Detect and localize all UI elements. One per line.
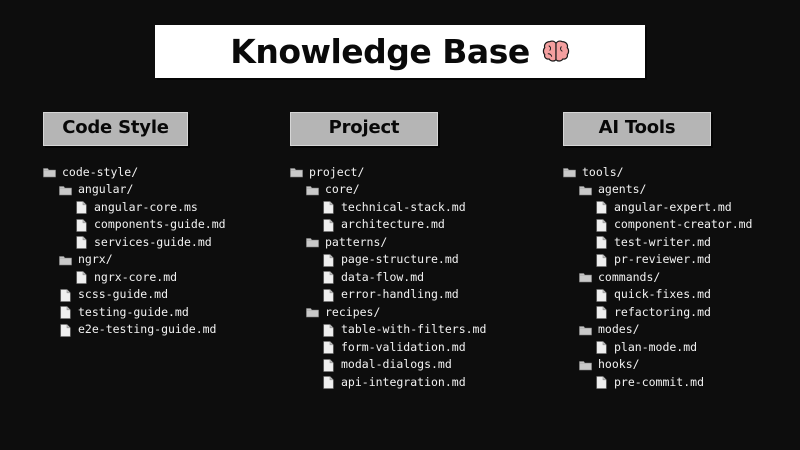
tree-item-label: api-integration.md [341, 377, 466, 389]
tree-item-label: error-handling.md [341, 289, 459, 301]
column-code-style: Code Style code-style/angular/angular-co… [0, 112, 268, 391]
tree-folder-row[interactable]: core/ [290, 181, 550, 199]
tree-item-label: component-creator.md [614, 219, 752, 231]
tree-folder-row[interactable]: recipes/ [290, 304, 550, 322]
tree-file-row[interactable]: table-with-filters.md [290, 321, 550, 339]
file-icon [595, 289, 608, 302]
tree-item-label: pr-reviewer.md [614, 254, 711, 266]
file-icon [595, 376, 608, 389]
tree-folder-row[interactable]: ngrx/ [43, 251, 268, 269]
folder-icon [306, 306, 319, 319]
tree-item-label: modal-dialogs.md [341, 359, 452, 371]
file-icon [595, 306, 608, 319]
tree-folder-row[interactable]: modes/ [563, 321, 800, 339]
tree-file-row[interactable]: components-guide.md [43, 216, 268, 234]
tree-folder-row[interactable]: commands/ [563, 269, 800, 287]
tree-item-label: form-validation.md [341, 342, 466, 354]
tree-file-row[interactable]: pre-commit.md [563, 374, 800, 392]
folder-icon [579, 271, 592, 284]
tree-item-label: table-with-filters.md [341, 324, 486, 336]
tree-item-label: technical-stack.md [341, 202, 466, 214]
folder-icon [59, 254, 72, 267]
tree-file-row[interactable]: modal-dialogs.md [290, 356, 550, 374]
tree-file-row[interactable]: page-structure.md [290, 251, 550, 269]
tree-ai-tools: tools/agents/angular-expert.mdcomponent-… [563, 164, 800, 392]
tree-item-label: test-writer.md [614, 237, 711, 249]
tree-folder-row[interactable]: code-style/ [43, 164, 268, 182]
title-banner: Knowledge Base [155, 25, 645, 78]
tree-file-row[interactable]: error-handling.md [290, 286, 550, 304]
file-icon [595, 201, 608, 214]
folder-icon [59, 184, 72, 197]
tree-item-label: patterns/ [325, 237, 387, 249]
file-icon [322, 359, 335, 372]
tree-item-label: scss-guide.md [78, 289, 168, 301]
file-icon [322, 219, 335, 232]
file-icon [75, 219, 88, 232]
tree-item-label: agents/ [598, 184, 646, 196]
tree-item-label: ngrx/ [78, 254, 113, 266]
tree-item-label: core/ [325, 184, 360, 196]
file-icon [322, 376, 335, 389]
file-icon [322, 201, 335, 214]
file-icon [75, 236, 88, 249]
tree-file-row[interactable]: pr-reviewer.md [563, 251, 800, 269]
tree-folder-row[interactable]: project/ [290, 164, 550, 182]
slide-root: Knowledge Base Code Style code-style/ang… [0, 0, 800, 450]
file-icon [595, 254, 608, 267]
tree-folder-row[interactable]: tools/ [563, 164, 800, 182]
column-header-project: Project [290, 112, 438, 146]
folder-icon [290, 166, 303, 179]
tree-item-label: data-flow.md [341, 272, 424, 284]
tree-item-label: pre-commit.md [614, 377, 704, 389]
tree-folder-row[interactable]: hooks/ [563, 356, 800, 374]
file-icon [322, 324, 335, 337]
folder-icon [579, 324, 592, 337]
file-icon [59, 306, 72, 319]
tree-file-row[interactable]: plan-mode.md [563, 339, 800, 357]
file-icon [59, 324, 72, 337]
tree-item-label: angular-core.ms [94, 202, 198, 214]
tree-item-label: quick-fixes.md [614, 289, 711, 301]
tree-item-label: commands/ [598, 272, 660, 284]
tree-file-row[interactable]: angular-core.ms [43, 199, 268, 217]
tree-folder-row[interactable]: patterns/ [290, 234, 550, 252]
column-header-code-style: Code Style [43, 112, 188, 146]
folder-icon [563, 166, 576, 179]
folder-icon [579, 184, 592, 197]
folder-icon [306, 184, 319, 197]
tree-folder-row[interactable]: agents/ [563, 181, 800, 199]
tree-file-row[interactable]: testing-guide.md [43, 304, 268, 322]
tree-item-label: e2e-testing-guide.md [78, 324, 216, 336]
tree-file-row[interactable]: component-creator.md [563, 216, 800, 234]
file-icon [75, 271, 88, 284]
tree-item-label: services-guide.md [94, 237, 212, 249]
file-icon [75, 201, 88, 214]
tree-item-label: components-guide.md [94, 219, 226, 231]
column-header-ai-tools: AI Tools [563, 112, 711, 146]
tree-file-row[interactable]: technical-stack.md [290, 199, 550, 217]
tree-file-row[interactable]: quick-fixes.md [563, 286, 800, 304]
tree-item-label: angular-expert.md [614, 202, 732, 214]
tree-file-row[interactable]: architecture.md [290, 216, 550, 234]
tree-item-label: tools/ [582, 167, 624, 179]
tree-item-label: hooks/ [598, 359, 640, 371]
tree-file-row[interactable]: e2e-testing-guide.md [43, 321, 268, 339]
tree-file-row[interactable]: api-integration.md [290, 374, 550, 392]
tree-item-label: refactoring.md [614, 307, 711, 319]
folder-icon [306, 236, 319, 249]
tree-project: project/core/technical-stack.mdarchitect… [290, 164, 550, 392]
tree-folder-row[interactable]: angular/ [43, 181, 268, 199]
tree-file-row[interactable]: angular-expert.md [563, 199, 800, 217]
tree-item-label: code-style/ [62, 167, 138, 179]
tree-item-label: project/ [309, 167, 364, 179]
tree-file-row[interactable]: services-guide.md [43, 234, 268, 252]
columns-container: Code Style code-style/angular/angular-co… [0, 112, 800, 391]
file-icon [322, 254, 335, 267]
tree-file-row[interactable]: form-validation.md [290, 339, 550, 357]
page-title: Knowledge Base [230, 35, 529, 68]
column-project: Project project/core/technical-stack.mda… [268, 112, 550, 391]
file-icon [322, 271, 335, 284]
file-icon [595, 219, 608, 232]
tree-item-label: modes/ [598, 324, 640, 336]
file-icon [595, 236, 608, 249]
tree-item-label: architecture.md [341, 219, 445, 231]
file-icon [595, 341, 608, 354]
tree-item-label: page-structure.md [341, 254, 459, 266]
file-icon [322, 341, 335, 354]
file-icon [322, 289, 335, 302]
tree-item-label: angular/ [78, 184, 133, 196]
tree-file-row[interactable]: test-writer.md [563, 234, 800, 252]
tree-file-row[interactable]: refactoring.md [563, 304, 800, 322]
tree-item-label: recipes/ [325, 307, 380, 319]
tree-file-row[interactable]: ngrx-core.md [43, 269, 268, 287]
folder-icon [579, 359, 592, 372]
tree-item-label: ngrx-core.md [94, 272, 177, 284]
tree-item-label: testing-guide.md [78, 307, 189, 319]
brain-emoji-icon [542, 39, 570, 65]
tree-file-row[interactable]: data-flow.md [290, 269, 550, 287]
tree-code-style: code-style/angular/angular-core.mscompon… [43, 164, 268, 339]
file-icon [59, 289, 72, 302]
folder-icon [43, 166, 56, 179]
tree-item-label: plan-mode.md [614, 342, 697, 354]
column-ai-tools: AI Tools tools/agents/angular-expert.mdc… [550, 112, 800, 391]
tree-file-row[interactable]: scss-guide.md [43, 286, 268, 304]
